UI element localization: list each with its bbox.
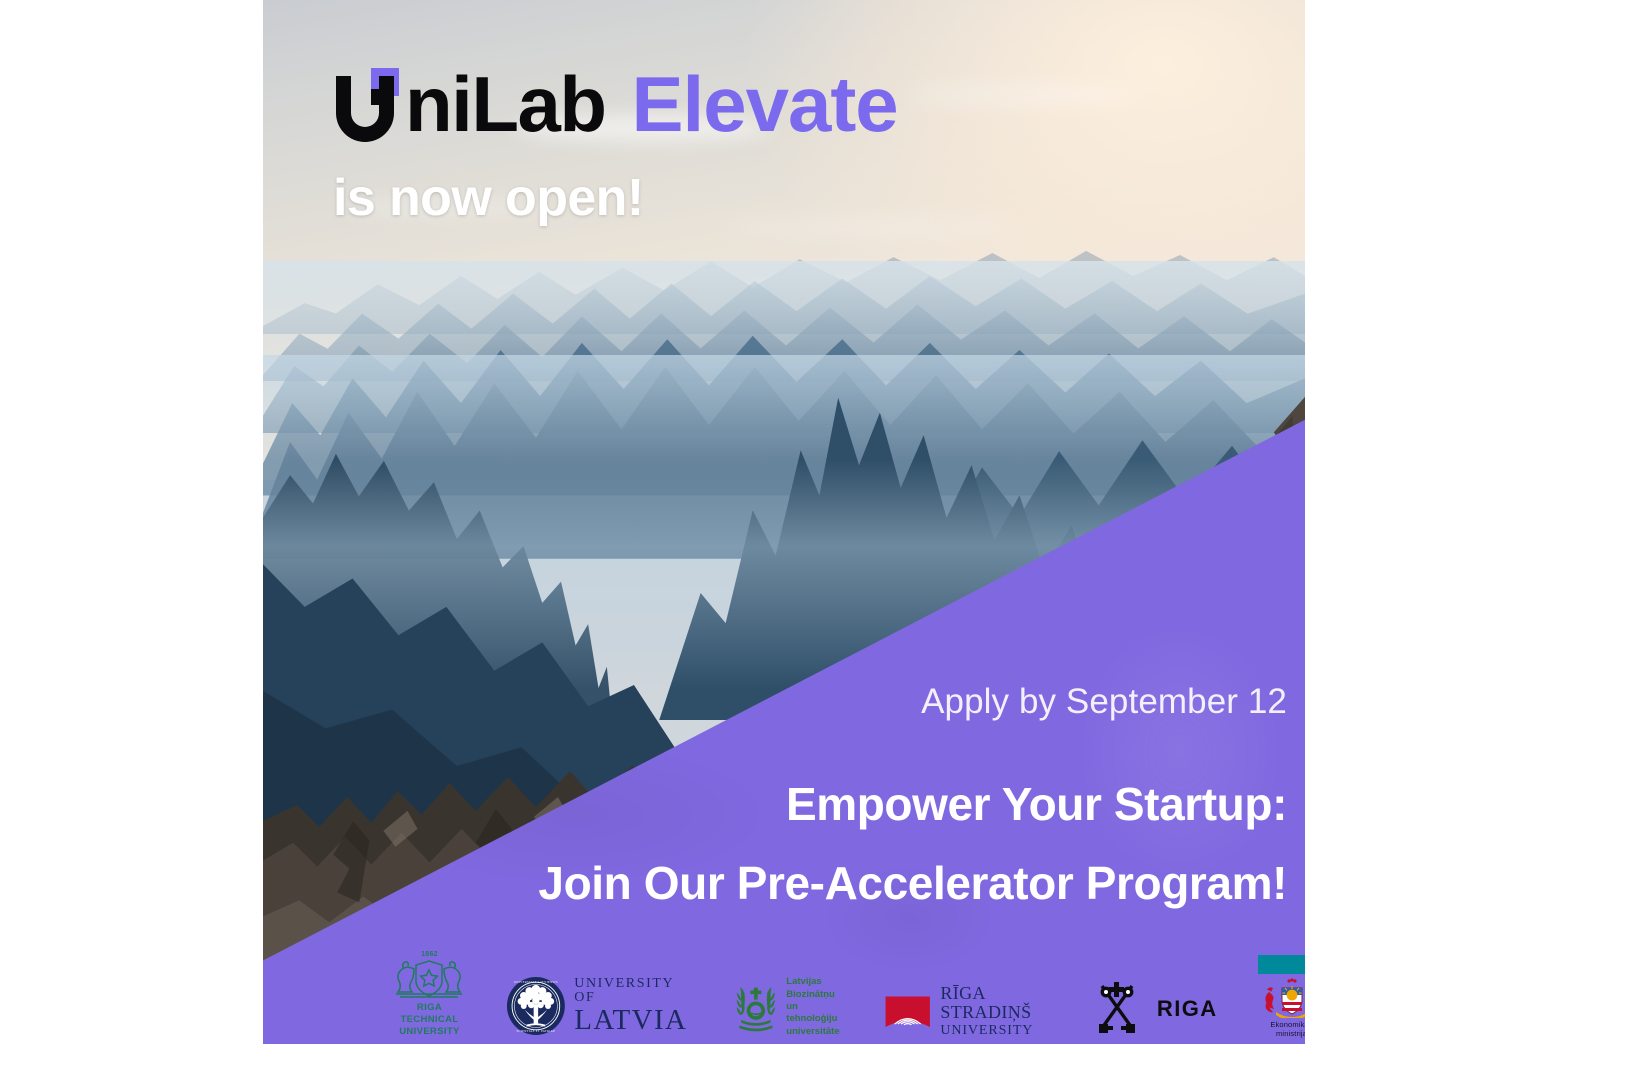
logo-word-elevate: Elevate	[632, 68, 898, 141]
unilab-elevate-logo: niLab Elevate	[336, 68, 898, 148]
partner-logo-riga-city: RIGA	[1088, 980, 1218, 1038]
latvia-coat-of-arms-icon	[1263, 978, 1305, 1018]
partner-logo-riga-technical-university: 1862 RIGA TECHNICAL UNIVERS	[392, 951, 466, 1038]
partner-logo-lbtu: Latvijas Biozinātņu un tehnoloģiju unive…	[732, 976, 844, 1038]
ministry-name-label: Ekonomikas ministrija	[1258, 1020, 1305, 1038]
lu-name-line-1: UNIVERSITY OF	[574, 977, 691, 1005]
logo-word-unilab: niLab	[405, 68, 606, 141]
partner-logo-riga-stradins-university: RĪGA STRADIŅŠ UNIVERSITY	[884, 984, 1048, 1038]
lu-tree-seal-icon: UNIVERSITAS LATVIENSIS SCIENTIAE ET PATR…	[506, 974, 566, 1038]
cloud-wisp	[909, 84, 1139, 106]
lbtu-wheat-icon	[732, 979, 780, 1035]
lbtu-name-line-4: universitāte	[786, 1026, 844, 1038]
lu-name-line-2: LATVIA	[574, 1006, 691, 1035]
partner-logo-university-of-latvia: UNIVERSITAS LATVIENSIS SCIENTIAE ET PATR…	[506, 974, 691, 1038]
rtu-name-line-1: RIGA TECHNICAL	[392, 1002, 466, 1026]
tagline-text: is now open!	[333, 168, 644, 228]
partner-logo-strip: 1862 RIGA TECHNICAL UNIVERS	[263, 942, 1305, 1038]
promotional-poster: niLab Elevate is now open! Apply by Sept…	[263, 0, 1305, 1044]
rsu-red-mark-icon	[884, 988, 931, 1034]
headline-line-2: Join Our Pre-Accelerator Program!	[538, 844, 1287, 923]
rsu-name-line-2: UNIVERSITY	[940, 1023, 1048, 1038]
riga-crossed-keys-icon	[1088, 980, 1146, 1038]
poster-stage: niLab Elevate is now open! Apply by Sept…	[0, 0, 1625, 1080]
unilab-u-glyph-icon	[336, 68, 402, 148]
lbtu-name-line-3: tehnoloģiju	[786, 1013, 844, 1025]
lbtu-name-line-1: Latvijas	[786, 976, 844, 988]
svg-text:UNIVERSITAS LATVIENSIS: UNIVERSITAS LATVIENSIS	[514, 980, 558, 984]
rsu-name-line-1: RĪGA STRADIŅŠ	[940, 984, 1048, 1023]
rtu-crest-icon	[392, 957, 466, 999]
partner-logo-ministry-of-economics: Ekonomikas ministrija	[1258, 955, 1305, 1038]
lbtu-name-line-2: Biozinātņu un	[786, 989, 844, 1014]
riga-city-label: RIGA	[1157, 996, 1218, 1022]
rtu-name-line-2: UNIVERSITY	[392, 1026, 466, 1038]
application-deadline: Apply by September 12	[921, 682, 1287, 722]
svg-text:SCIENTIAE ET PATRIAE: SCIENTIAE ET PATRIAE	[517, 1029, 556, 1033]
headline-block: Empower Your Startup: Join Our Pre-Accel…	[538, 765, 1287, 923]
ministry-teal-bar	[1258, 955, 1305, 974]
headline-line-1: Empower Your Startup:	[538, 765, 1287, 844]
